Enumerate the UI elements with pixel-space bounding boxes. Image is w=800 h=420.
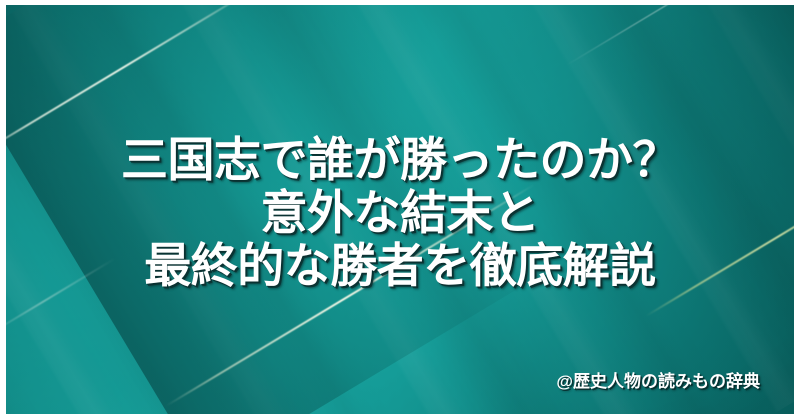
banner-artwork: 三国志で誰が勝ったのか？ 意外な結末と 最終的な勝者を徹底解説 @歴史人物の読み… (6, 5, 794, 414)
title-line-1: 三国志で誰が勝ったのか？ (6, 133, 794, 186)
site-watermark: @歴史人物の読みもの辞典 (556, 372, 760, 392)
light-streak-top-right (566, 5, 730, 66)
banner-title: 三国志で誰が勝ったのか？ 意外な結末と 最終的な勝者を徹底解説 (6, 133, 794, 292)
title-line-3: 最終的な勝者を徹底解説 (6, 239, 794, 292)
title-line-2: 意外な結末と (6, 186, 794, 239)
thumbnail-banner: 三国志で誰が勝ったのか？ 意外な結末と 最終的な勝者を徹底解説 @歴史人物の読み… (0, 0, 800, 420)
